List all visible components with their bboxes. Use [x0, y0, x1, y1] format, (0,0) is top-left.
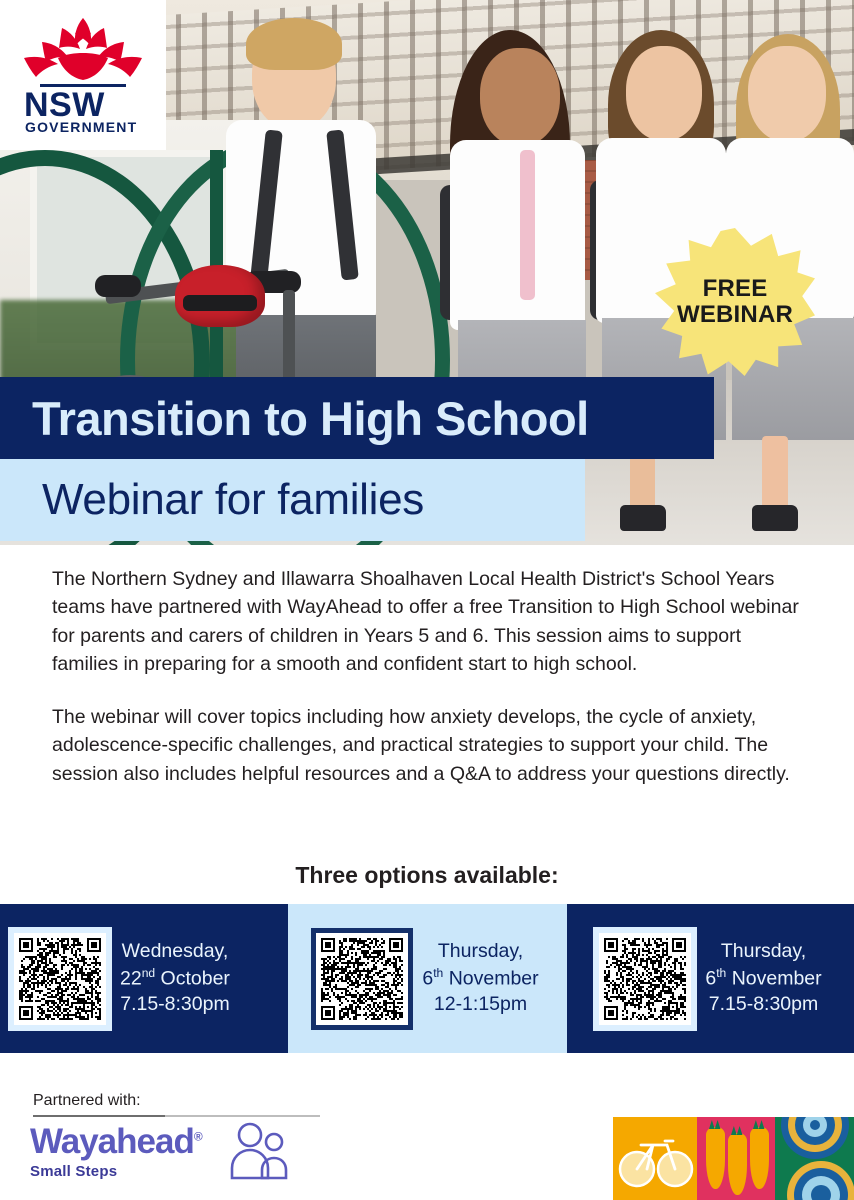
session-2-details: Thursday, 6th November 12-1:15pm [422, 939, 538, 1018]
carrot-1 [706, 1127, 725, 1189]
bicycle-icon [613, 1117, 697, 1200]
indigenous-circles-icon [775, 1117, 854, 1200]
session-1-details: Wednesday, 22nd October 7.15-8:30pm [120, 939, 230, 1018]
session-2-time: 12-1:15pm [422, 992, 538, 1018]
nsw-logo-line2: GOVERNMENT [25, 119, 137, 135]
session-3-day: Thursday, [705, 939, 821, 965]
qr-code-session-1[interactable] [14, 933, 106, 1025]
session-1-day: Wednesday, [120, 939, 230, 965]
page-title-band: Transition to High School [0, 377, 714, 459]
photo-bike-helmet [175, 265, 265, 327]
session-2-date: 6th November [422, 965, 538, 992]
photo-grip-left [95, 275, 141, 297]
photo-shoe-4 [752, 505, 798, 531]
session-panel-3[interactable]: Thursday, 6th November 7.15-8:30pm [567, 904, 854, 1053]
wayahead-logo: Wayahead® Small Steps [30, 1124, 202, 1180]
photo-head-3 [626, 46, 702, 141]
session-3-date: 6th November [705, 965, 821, 992]
page-subtitle-band: Webinar for families [0, 459, 585, 541]
photo-strap-2 [520, 150, 535, 300]
page-subtitle: Webinar for families [42, 475, 424, 525]
carrot-3 [750, 1127, 769, 1189]
carrot-2 [728, 1133, 747, 1195]
body-copy: The Northern Sydney and Illawarra Shoalh… [52, 565, 812, 788]
paragraph-1: The Northern Sydney and Illawarra Shoalh… [52, 565, 812, 678]
health-promotion-tiles [613, 1117, 854, 1200]
photo-head-2 [480, 48, 560, 146]
carrot-tile [697, 1117, 775, 1200]
photo-head-4 [748, 46, 826, 142]
wayahead-wordmark: Wayahead® [30, 1124, 202, 1159]
partner-divider [33, 1115, 320, 1117]
partnered-with-label: Partnered with: [33, 1092, 141, 1110]
session-3-time: 7.15-8:30pm [705, 992, 821, 1018]
qr-code-session-2[interactable] [316, 933, 408, 1025]
session-1-date: 22nd October [120, 965, 230, 992]
session-panel-2[interactable]: Thursday, 6th November 12-1:15pm [288, 904, 567, 1053]
photo-shirt-2 [450, 140, 585, 330]
badge-line-1: FREE [703, 276, 768, 302]
session-2-day: Thursday, [422, 939, 538, 965]
circles-tile [775, 1117, 854, 1200]
qr-code-session-3[interactable] [599, 933, 691, 1025]
photo-leg-4a [762, 436, 788, 516]
photo-hair-1 [246, 18, 342, 70]
page-title: Transition to High School [32, 391, 589, 446]
photo-shoe-3 [620, 505, 666, 531]
waratah-icon [18, 14, 148, 92]
badge-line-2: WEBINAR [677, 302, 793, 328]
two-people-icon [228, 1120, 290, 1182]
options-heading: Three options available: [0, 862, 854, 889]
session-panel-1[interactable]: Wednesday, 22nd October 7.15-8:30pm [0, 904, 288, 1053]
nsw-government-logo: NSW GOVERNMENT [0, 0, 166, 150]
bicycle-tile [613, 1117, 697, 1200]
wayahead-tagline: Small Steps [30, 1163, 202, 1180]
session-3-details: Thursday, 6th November 7.15-8:30pm [705, 939, 821, 1018]
paragraph-2: The webinar will cover topics including … [52, 703, 812, 788]
session-1-time: 7.15-8:30pm [120, 992, 230, 1018]
session-options: Wednesday, 22nd October 7.15-8:30pm Thur… [0, 904, 854, 1053]
